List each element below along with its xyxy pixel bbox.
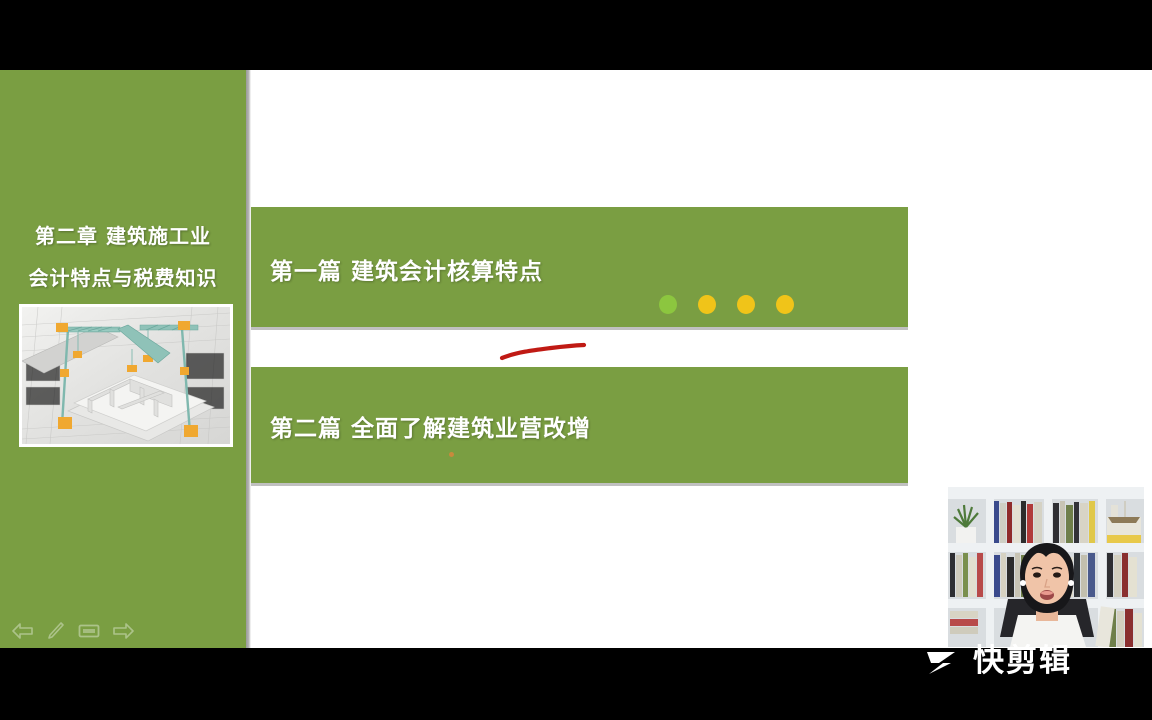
watermark: 快剪辑 xyxy=(925,638,1072,684)
kuaijianji-logo-icon xyxy=(925,646,963,676)
slide-navigation-toolbar[interactable] xyxy=(12,618,132,644)
watermark-label: 快剪辑 xyxy=(973,646,1072,677)
decorative-dot-row xyxy=(659,295,794,314)
slide-sidebar: 第二章 建筑施工业 会计特点与税费知识 xyxy=(0,70,246,648)
video-player-screen: 第二章 建筑施工业 会计特点与税费知识 xyxy=(0,0,1152,720)
previous-slide-icon[interactable] xyxy=(12,620,34,642)
dot-yellow-2 xyxy=(737,295,755,314)
construction-site-image xyxy=(19,304,233,447)
screen-icon[interactable] xyxy=(78,620,100,642)
cursor-dot-marker xyxy=(449,452,454,457)
letterbox-top xyxy=(0,0,1152,70)
slide-title-line-1: 第二章 建筑施工业 xyxy=(0,220,246,249)
dot-yellow-1 xyxy=(698,295,716,314)
pen-annotation-icon[interactable] xyxy=(46,620,66,642)
dot-yellow-3 xyxy=(776,295,794,314)
section-banner-2[interactable]: 第二篇 全面了解建筑业营改增 xyxy=(251,367,908,483)
section-banner-1-label: 第一篇 建筑会计核算特点 xyxy=(270,252,543,286)
section-banner-2-label: 第二篇 全面了解建筑业营改增 xyxy=(270,409,591,443)
presenter-webcam[interactable] xyxy=(948,487,1144,647)
dot-green xyxy=(659,295,677,314)
next-slide-icon[interactable] xyxy=(112,620,134,642)
red-underline-annotation xyxy=(499,340,589,364)
slide-title-line-2: 会计特点与税费知识 xyxy=(0,262,246,291)
section-banner-1[interactable]: 第一篇 建筑会计核算特点 xyxy=(251,207,908,327)
